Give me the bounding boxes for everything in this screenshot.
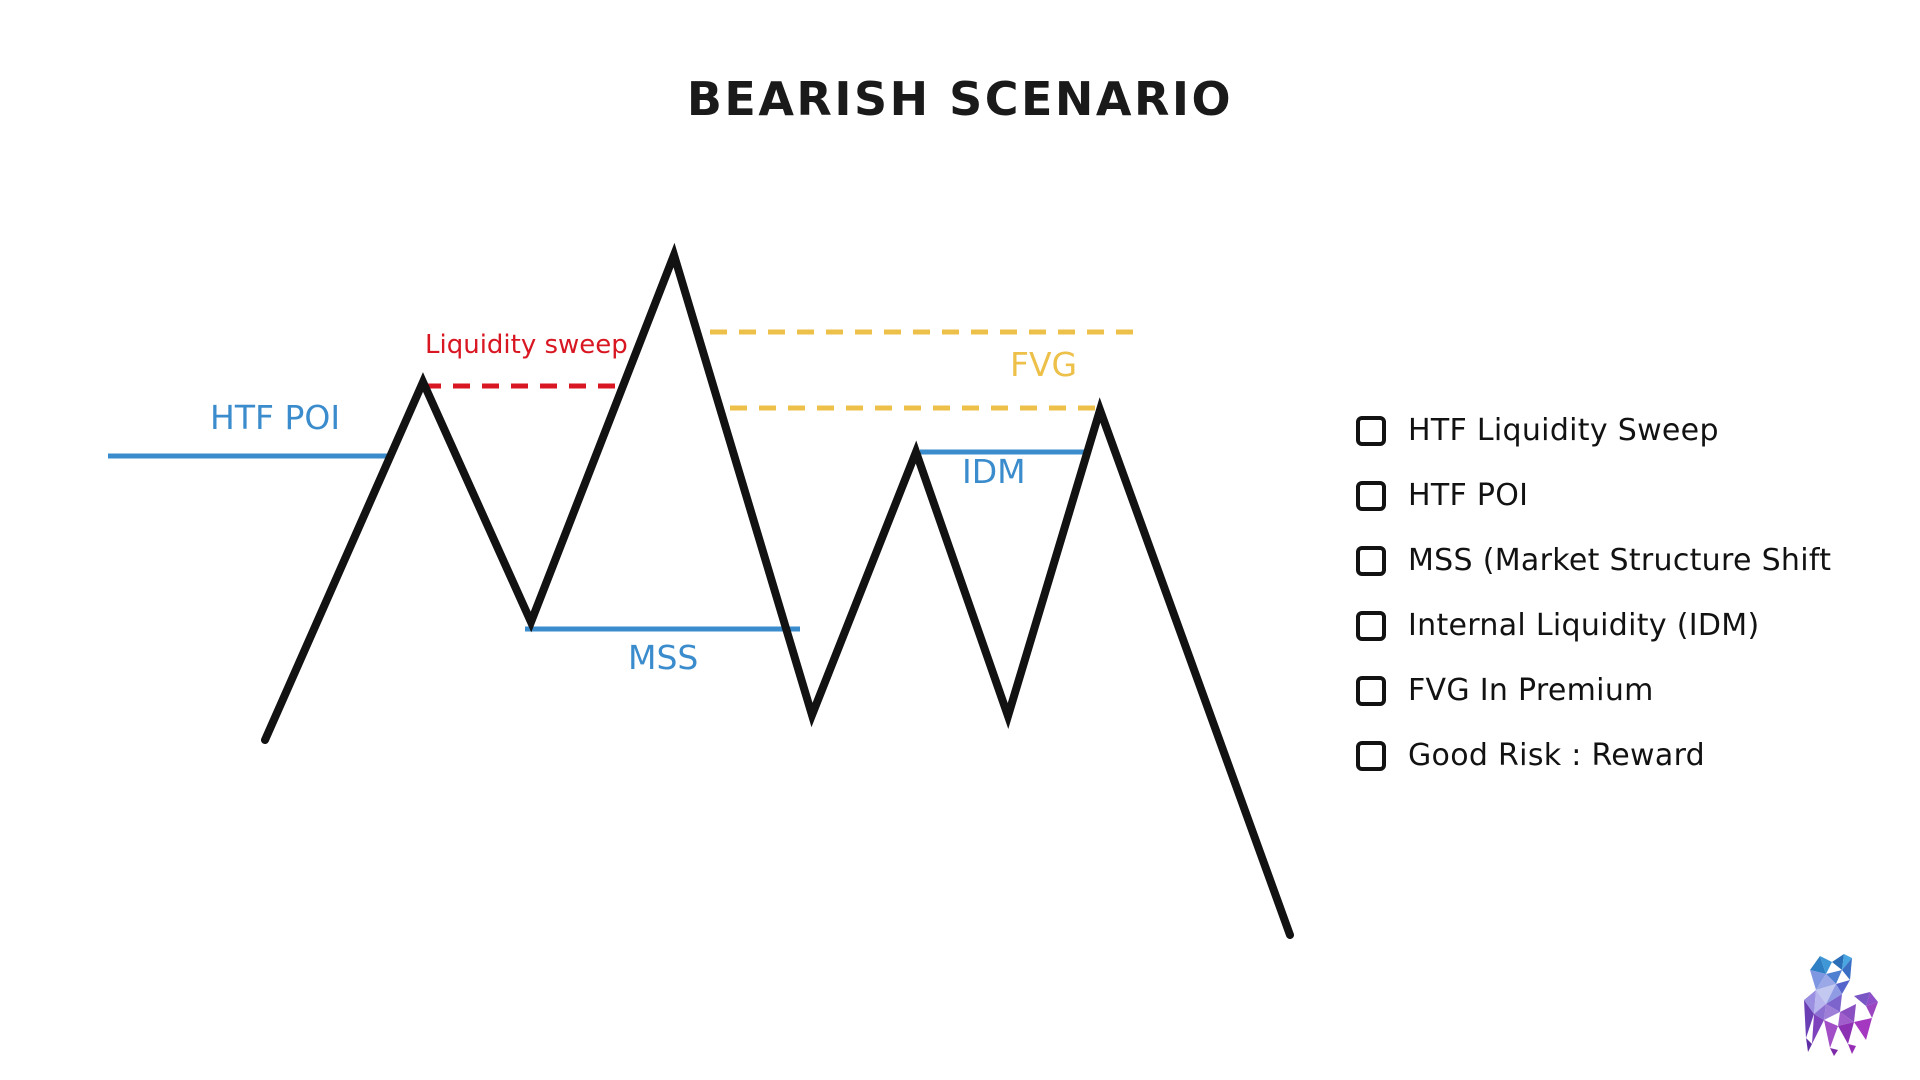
- checkbox-icon[interactable]: [1356, 741, 1386, 771]
- mss-label: MSS: [628, 638, 698, 677]
- checklist-row[interactable]: MSS (Market Structure Shift: [1356, 528, 1896, 593]
- setup-checklist: HTF Liquidity SweepHTF POIMSS (Market St…: [1356, 398, 1896, 788]
- checklist-row[interactable]: HTF POI: [1356, 463, 1896, 528]
- checklist-item-label: MSS (Market Structure Shift: [1408, 543, 1831, 578]
- checklist-item-label: HTF Liquidity Sweep: [1408, 413, 1719, 448]
- checklist-row[interactable]: Internal Liquidity (IDM): [1356, 593, 1896, 658]
- liquidity-sweep-label: Liquidity sweep: [425, 330, 628, 360]
- checklist-row[interactable]: FVG In Premium: [1356, 658, 1896, 723]
- bull-logo: [1786, 948, 1898, 1060]
- checklist-item-label: FVG In Premium: [1408, 673, 1654, 708]
- checkbox-icon[interactable]: [1356, 676, 1386, 706]
- diagram-canvas: BEARISH SCENARIO HTF POI Liquidity sweep…: [0, 0, 1920, 1080]
- checklist-item-label: Good Risk : Reward: [1408, 738, 1705, 773]
- bull-logo-icon: [1786, 948, 1898, 1060]
- price-action-line: [265, 255, 1290, 935]
- idm-label: IDM: [962, 452, 1026, 491]
- checklist-row[interactable]: Good Risk : Reward: [1356, 723, 1896, 788]
- htf-poi-label: HTF POI: [210, 398, 340, 437]
- checkbox-icon[interactable]: [1356, 481, 1386, 511]
- checklist-item-label: HTF POI: [1408, 478, 1528, 513]
- checkbox-icon[interactable]: [1356, 611, 1386, 641]
- checkbox-icon[interactable]: [1356, 416, 1386, 446]
- page-title: BEARISH SCENARIO: [0, 72, 1920, 126]
- checkbox-icon[interactable]: [1356, 546, 1386, 576]
- fvg-label: FVG: [1010, 345, 1077, 384]
- checklist-row[interactable]: HTF Liquidity Sweep: [1356, 398, 1896, 463]
- checklist-item-label: Internal Liquidity (IDM): [1408, 608, 1759, 643]
